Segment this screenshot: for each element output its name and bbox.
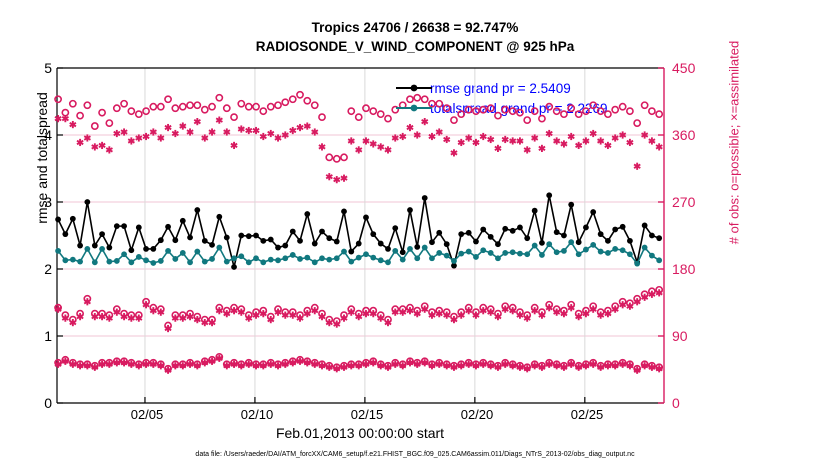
obs-assimilated-marker: [297, 124, 303, 131]
series-point: [253, 255, 259, 261]
obs-assimilated-marker: [546, 130, 552, 137]
series-point: [180, 218, 186, 224]
series-point: [576, 251, 582, 257]
series-point: [297, 256, 303, 262]
obs-assimilated-marker: [348, 137, 354, 144]
obs-assimilated-marker: [458, 139, 464, 146]
series-point: [590, 209, 596, 215]
obs-possible-marker: [84, 102, 90, 108]
series-point: [649, 253, 655, 259]
series-point: [502, 250, 508, 256]
obs-possible-marker: [341, 154, 347, 160]
obs-possible-marker: [312, 102, 318, 108]
series-point: [238, 253, 244, 259]
series-point: [642, 223, 648, 229]
obs-possible-marker: [304, 98, 310, 104]
obs-assimilated-marker: [194, 118, 200, 125]
series-point: [246, 259, 252, 265]
series-point: [605, 250, 611, 256]
obs-possible-marker: [429, 101, 435, 107]
obs-assimilated-marker: [55, 115, 61, 122]
obs-possible-marker: [55, 96, 61, 102]
series-point: [202, 238, 208, 244]
series-point: [268, 237, 274, 243]
obs-assimilated-marker: [378, 143, 384, 150]
series-point: [488, 250, 494, 256]
series-point: [561, 233, 567, 239]
series-point: [429, 255, 435, 261]
series-point: [370, 255, 376, 261]
series-point: [546, 241, 552, 247]
series-point: [136, 225, 142, 231]
obs-possible-marker: [180, 104, 186, 110]
series-point: [473, 239, 479, 245]
series-point: [209, 256, 215, 262]
series-point: [583, 247, 589, 253]
obs-possible-marker: [583, 108, 589, 114]
obs-possible-marker: [473, 108, 479, 114]
series-point: [334, 255, 340, 261]
obs-possible-marker: [444, 105, 450, 111]
series-point: [341, 208, 347, 214]
obs-assimilated-marker: [539, 145, 545, 152]
series-point: [290, 229, 296, 235]
series-point: [627, 238, 633, 244]
series-point: [216, 214, 222, 220]
obs-possible-marker: [649, 108, 655, 114]
obs-assimilated-marker: [480, 133, 486, 140]
obs-possible-marker: [121, 101, 127, 107]
obs-assimilated-marker: [517, 137, 523, 144]
obs-assimilated-marker: [407, 124, 413, 131]
series-point: [400, 257, 406, 263]
series-point: [143, 246, 149, 252]
series-point: [414, 244, 420, 250]
series-point: [612, 227, 618, 233]
series-point: [649, 233, 655, 239]
obs-possible-marker: [92, 123, 98, 129]
obs-assimilated-marker: [634, 163, 640, 170]
series-point: [209, 242, 215, 248]
obs-possible-marker: [576, 111, 582, 117]
obs-assimilated-marker: [77, 139, 83, 146]
obs-assimilated-marker: [304, 122, 310, 129]
series-point: [180, 250, 186, 256]
series-point: [275, 257, 281, 263]
series-point: [150, 260, 156, 266]
series-point: [436, 250, 442, 256]
series-point: [326, 235, 332, 241]
obs-assimilated-marker: [319, 143, 325, 150]
obs-assimilated-marker: [231, 142, 237, 149]
series-point: [414, 255, 420, 261]
legend-sample-marker: [411, 105, 418, 112]
series-point: [458, 231, 464, 237]
obs-possible-marker: [158, 104, 164, 110]
series-point: [275, 245, 281, 251]
series-point: [392, 248, 398, 254]
obs-assimilated-marker: [363, 137, 369, 144]
obs-possible-marker: [554, 108, 560, 114]
series-point: [400, 249, 406, 255]
series-point: [568, 239, 574, 245]
obs-possible-marker: [517, 110, 523, 116]
obs-possible-marker: [451, 117, 457, 123]
series-point: [319, 229, 325, 235]
obs-possible-marker: [598, 108, 604, 114]
obs-possible-marker: [532, 108, 538, 114]
series-point: [165, 248, 171, 254]
series-point: [554, 229, 560, 235]
obs-assimilated-marker: [260, 133, 266, 140]
obs-possible-marker: [143, 108, 149, 114]
obs-possible-marker: [627, 108, 633, 114]
series-point: [84, 246, 90, 252]
obs-assimilated-marker: [253, 127, 259, 134]
obs-possible-marker: [246, 104, 252, 110]
obs-assimilated-marker: [290, 127, 296, 134]
series-point: [656, 257, 662, 263]
obs-possible-marker: [128, 108, 134, 114]
series-point: [510, 249, 516, 255]
series-point: [194, 249, 200, 255]
obs-possible-marker: [260, 108, 266, 114]
series-point: [524, 251, 530, 257]
series-point: [121, 223, 127, 229]
obs-assimilated-marker: [510, 137, 516, 144]
series-point: [224, 235, 230, 241]
series-point: [341, 249, 347, 255]
obs-possible-marker: [407, 96, 413, 102]
series-point: [429, 239, 435, 245]
series-point: [172, 237, 178, 243]
series-point: [158, 258, 164, 264]
series-point: [312, 259, 318, 265]
series-point: [77, 243, 83, 249]
obs-assimilated-marker: [326, 173, 332, 180]
series-point: [488, 234, 494, 240]
obs-possible-marker: [231, 114, 237, 120]
obs-possible-marker: [326, 154, 332, 160]
obs-assimilated-marker: [246, 127, 252, 134]
series-point: [260, 259, 266, 265]
obs-possible-marker: [546, 104, 552, 110]
obs-assimilated-marker: [92, 143, 98, 150]
series-point: [480, 247, 486, 253]
obs-assimilated-marker: [216, 117, 222, 124]
series-point: [99, 246, 105, 252]
series-point: [128, 259, 134, 265]
obs-possible-marker: [187, 102, 193, 108]
obs-possible-marker: [62, 110, 68, 116]
obs-possible-marker: [612, 107, 618, 113]
series-point: [517, 225, 523, 231]
obs-assimilated-marker: [114, 130, 120, 137]
obs-assimilated-marker: [583, 137, 589, 144]
series-point: [128, 247, 134, 253]
obs-possible-marker: [275, 102, 281, 108]
obs-possible-marker: [150, 104, 156, 110]
series-point: [576, 239, 582, 245]
obs-possible-marker: [172, 105, 178, 111]
series-point: [136, 254, 142, 260]
series-point: [598, 231, 604, 237]
series-point: [70, 216, 76, 222]
series-point: [532, 243, 538, 249]
obs-assimilated-marker: [502, 136, 508, 143]
obs-assimilated-marker: [627, 139, 633, 146]
obs-assimilated-marker: [590, 130, 596, 137]
obs-possible-marker: [209, 104, 215, 110]
series-point: [55, 217, 61, 223]
series-point: [627, 251, 633, 257]
series-point: [502, 226, 508, 232]
obs-assimilated-marker: [334, 176, 340, 183]
series-point: [539, 252, 545, 258]
obs-possible-marker: [334, 156, 340, 162]
series-point: [99, 231, 105, 237]
series-point: [231, 255, 237, 261]
obs-assimilated-marker: [649, 137, 655, 144]
series-point: [444, 241, 450, 247]
series-point: [202, 259, 208, 265]
series-point: [70, 257, 76, 263]
obs-possible-marker: [642, 102, 648, 108]
obs-possible-marker: [282, 99, 288, 105]
obs-assimilated-marker: [99, 142, 105, 149]
obs-possible-marker: [348, 108, 354, 114]
series-point: [187, 259, 193, 265]
obs-possible-marker: [253, 104, 259, 110]
obs-possible-marker: [634, 120, 640, 126]
series-point: [451, 258, 457, 264]
series-point: [568, 202, 574, 208]
series-point: [216, 245, 222, 251]
series-point: [539, 240, 545, 246]
obs-assimilated-marker: [576, 142, 582, 149]
obs-possible-marker: [290, 96, 296, 102]
series-point: [55, 248, 61, 254]
obs-assimilated-marker: [106, 146, 112, 153]
obs-possible-marker: [319, 114, 325, 120]
obs-possible-marker: [414, 95, 420, 101]
series-point: [480, 227, 486, 233]
obs-possible-marker: [620, 104, 626, 110]
obs-assimilated-marker: [451, 149, 457, 156]
obs-assimilated-marker: [495, 145, 501, 152]
series-point: [385, 246, 391, 252]
series-point: [634, 261, 640, 267]
series-point: [143, 257, 149, 263]
series-point: [106, 259, 112, 265]
obs-assimilated-marker: [238, 125, 244, 132]
obs-possible-marker: [268, 104, 274, 110]
obs-possible-marker: [70, 101, 76, 107]
obs-assimilated-marker: [341, 175, 347, 182]
series-point: [598, 249, 604, 255]
obs-assimilated-marker: [385, 146, 391, 153]
obs-possible-marker: [370, 108, 376, 114]
series-point: [620, 247, 626, 253]
obs-assimilated-marker: [143, 133, 149, 140]
obs-possible-marker: [458, 111, 464, 117]
obs-possible-marker: [524, 117, 530, 123]
series-point: [238, 233, 244, 239]
series-point: [612, 246, 618, 252]
series-point: [231, 264, 237, 270]
series-point: [444, 253, 450, 259]
series-point: [510, 228, 516, 234]
obs-possible-marker: [106, 120, 112, 126]
series-point: [363, 251, 369, 257]
series-point: [114, 223, 120, 229]
series-point: [62, 231, 68, 237]
series-point: [121, 251, 127, 257]
obs-possible-marker: [656, 111, 662, 117]
obs-possible-marker: [539, 116, 545, 122]
obs-possible-marker: [436, 101, 442, 107]
series-point: [253, 233, 259, 239]
obs-possible-marker: [495, 113, 501, 119]
obs-assimilated-marker: [422, 118, 428, 125]
obs-assimilated-marker: [488, 136, 494, 143]
obs-assimilated-marker: [598, 137, 604, 144]
series-point: [656, 235, 662, 241]
obs-assimilated-marker: [268, 130, 274, 137]
obs-assimilated-marker: [172, 130, 178, 137]
series-point: [561, 248, 567, 254]
series-point: [334, 239, 340, 245]
series-point: [260, 238, 266, 244]
obs-assimilated-marker: [444, 136, 450, 143]
obs-assimilated-marker: [400, 133, 406, 140]
obs-assimilated-marker: [128, 137, 134, 144]
obs-assimilated-marker: [429, 133, 435, 140]
series-point: [224, 259, 230, 265]
series-point: [62, 257, 68, 263]
series-point: [517, 251, 523, 257]
series-point: [319, 255, 325, 261]
series-point: [385, 259, 391, 265]
series-point: [554, 249, 560, 255]
obs-assimilated-marker: [524, 146, 530, 153]
series-point: [407, 207, 413, 213]
obs-possible-marker: [480, 107, 486, 113]
series-point: [312, 241, 318, 247]
series-point: [304, 211, 310, 217]
series-point: [436, 230, 442, 236]
obs-possible-marker: [238, 101, 244, 107]
obs-assimilated-marker: [70, 121, 76, 128]
series-point: [356, 241, 362, 247]
series-point: [466, 230, 472, 236]
obs-possible-marker: [568, 105, 574, 111]
obs-possible-marker: [356, 114, 362, 120]
series-point: [92, 243, 98, 249]
obs-possible-marker: [216, 95, 222, 101]
obs-possible-marker: [202, 107, 208, 113]
obs-possible-marker: [224, 105, 230, 111]
series-point: [422, 195, 428, 201]
obs-possible-marker: [114, 105, 120, 111]
series-point: [532, 208, 538, 214]
series-point: [165, 224, 171, 230]
obs-possible-marker: [605, 111, 611, 117]
series-point: [304, 255, 310, 261]
obs-possible-marker: [77, 113, 83, 119]
obs-possible-marker: [422, 96, 428, 102]
series-point: [194, 207, 200, 213]
obs-assimilated-marker: [356, 146, 362, 153]
series-point: [495, 255, 501, 261]
obs-possible-marker: [297, 92, 303, 98]
plot-canvas: [0, 0, 830, 470]
series-point: [282, 255, 288, 261]
obs-possible-marker: [510, 108, 516, 114]
obs-possible-marker: [466, 107, 472, 113]
series-point: [466, 249, 472, 255]
obs-possible-marker: [99, 110, 105, 116]
series-point: [92, 259, 98, 265]
series-point: [407, 246, 413, 252]
series-point: [172, 256, 178, 262]
obs-assimilated-marker: [165, 124, 171, 131]
series-point: [422, 245, 428, 251]
obs-assimilated-marker: [561, 140, 567, 147]
series-point: [282, 243, 288, 249]
obs-assimilated-marker: [180, 122, 186, 129]
series-point: [495, 241, 501, 247]
obs-assimilated-marker: [568, 133, 574, 140]
obs-possible-marker: [194, 102, 200, 108]
series-point: [297, 238, 303, 244]
series-point: [605, 238, 611, 244]
legend-sample-marker: [411, 85, 418, 92]
obs-possible-marker: [378, 111, 384, 117]
series-point: [363, 215, 369, 221]
series-point: [158, 237, 164, 243]
series-point: [590, 242, 596, 248]
series-point: [348, 249, 354, 255]
obs-assimilated-marker: [605, 142, 611, 149]
series-point: [150, 246, 156, 252]
series-point: [473, 254, 479, 260]
obs-possible-marker: [136, 111, 142, 117]
obs-assimilated-marker: [554, 137, 560, 144]
series-point: [290, 252, 296, 258]
series-point: [84, 199, 90, 205]
series-point: [326, 257, 332, 263]
obs-possible-marker: [502, 107, 508, 113]
series-point: [392, 225, 398, 231]
series-point: [378, 257, 384, 263]
series-point: [187, 235, 193, 241]
obs-possible-marker: [561, 111, 567, 117]
series-point: [546, 192, 552, 198]
obs-possible-marker: [165, 96, 171, 102]
series-point: [370, 231, 376, 237]
obs-possible-marker: [488, 105, 494, 111]
series-point: [642, 245, 648, 251]
obs-assimilated-marker: [62, 115, 68, 122]
series-point: [246, 233, 252, 239]
obs-assimilated-marker: [473, 139, 479, 146]
series-point: [524, 235, 530, 241]
series-point: [620, 224, 626, 230]
obs-assimilated-marker: [370, 140, 376, 147]
series-point: [106, 245, 112, 251]
obs-assimilated-marker: [656, 143, 662, 150]
